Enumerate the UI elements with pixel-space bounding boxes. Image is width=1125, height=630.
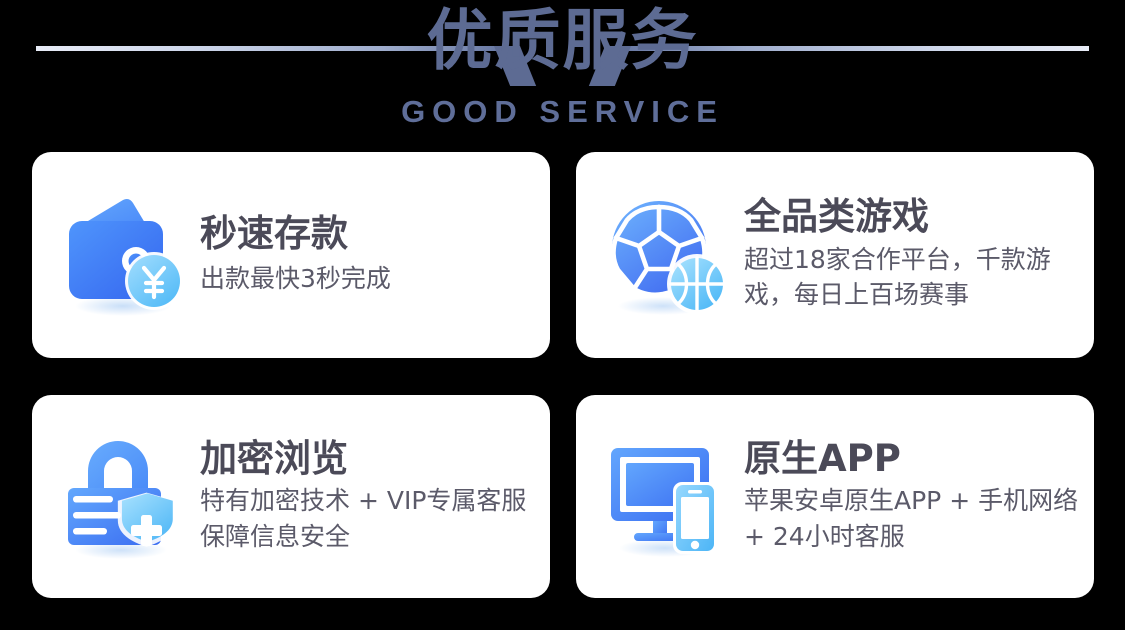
soccer-basketball-icon <box>598 185 738 325</box>
feature-card-title: 全品类游戏 <box>744 197 1084 238</box>
feature-card-text: 秒速存款 出款最快3秒完成 <box>194 214 540 296</box>
lock-shield-icon <box>54 427 194 567</box>
feature-card-native-app[interactable]: 原生APP 苹果安卓原生APP + 手机网络 + 24小时客服 <box>576 395 1094 598</box>
feature-card-games[interactable]: 全品类游戏 超过18家合作平台，千款游戏，每日上百场赛事 <box>576 152 1094 358</box>
feature-card-text: 原生APP 苹果安卓原生APP + 手机网络 + 24小时客服 <box>738 439 1084 555</box>
feature-card-desc: 超过18家合作平台，千款游戏，每日上百场赛事 <box>744 242 1084 313</box>
feature-card-desc: 特有加密技术 + VIP专属客服保障信息安全 <box>200 483 540 554</box>
feature-card-desc: 出款最快3秒完成 <box>200 261 540 297</box>
page-title: 优质服务 <box>0 8 1125 74</box>
wallet-yen-icon <box>54 185 194 325</box>
feature-card-title: 秒速存款 <box>200 214 540 255</box>
page-subtitle: GOOD SERVICE <box>0 96 1125 127</box>
feature-card-text: 全品类游戏 超过18家合作平台，千款游戏，每日上百场赛事 <box>738 197 1084 313</box>
monitor-phone-icon <box>598 427 738 567</box>
feature-card-deposit[interactable]: 秒速存款 出款最快3秒完成 <box>32 152 550 358</box>
feature-card-desc: 苹果安卓原生APP + 手机网络 + 24小时客服 <box>744 483 1084 554</box>
feature-card-title: 加密浏览 <box>200 439 540 480</box>
feature-card-encryption[interactable]: 加密浏览 特有加密技术 + VIP专属客服保障信息安全 <box>32 395 550 598</box>
promo-banner: 优质服务 GOOD SERVICE <box>0 0 1125 630</box>
header: 优质服务 GOOD SERVICE <box>0 0 1125 145</box>
feature-card-text: 加密浏览 特有加密技术 + VIP专属客服保障信息安全 <box>194 439 540 555</box>
feature-card-grid: 秒速存款 出款最快3秒完成 <box>32 152 1094 598</box>
feature-card-title: 原生APP <box>744 439 1084 480</box>
